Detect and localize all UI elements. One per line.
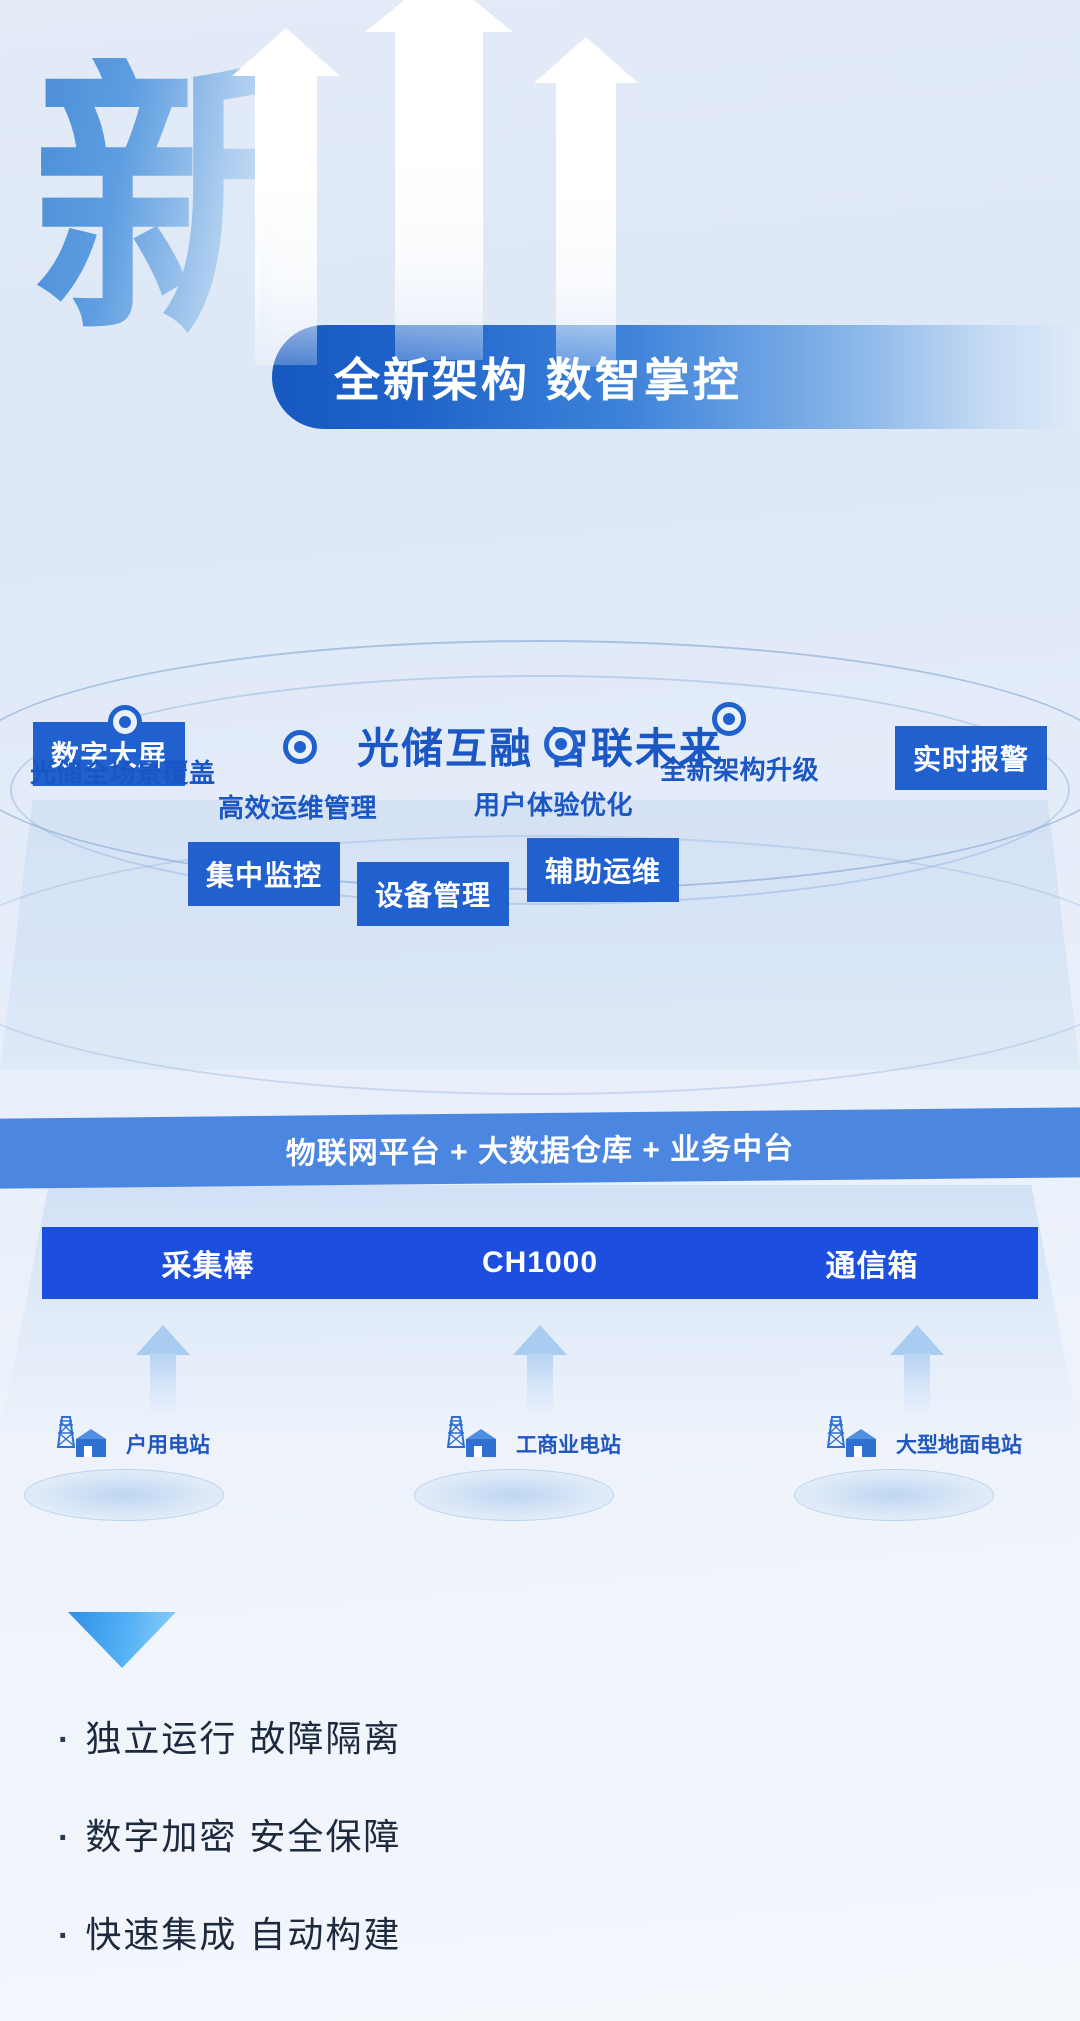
arrow-right-head-icon: [534, 37, 638, 83]
feature-efficient-om-management[interactable]: 高效运维管理: [283, 730, 317, 764]
tag-assisted-om[interactable]: 辅助运维: [527, 838, 679, 902]
upflow-arrow-head: [136, 1325, 190, 1355]
list-item: · 独立运行 故障隔离: [58, 1710, 958, 1762]
tag-device-management[interactable]: 设备管理: [357, 862, 509, 926]
arrow-center-head-icon: [365, 0, 513, 32]
feature-label: 用户体验优化: [474, 785, 633, 822]
upflow-arrow-shaft: [904, 1353, 930, 1415]
upflow-arrow-shaft: [527, 1353, 553, 1415]
power-station-icon: [48, 1413, 112, 1471]
power-station-icon: [818, 1413, 882, 1471]
benefit-text: 数字加密 安全保障: [85, 1808, 401, 1860]
arrow-left-shaft: [255, 75, 317, 365]
bullet-marker-icon: ·: [58, 1919, 69, 1953]
tag-realtime-alarm[interactable]: 实时报警: [895, 726, 1047, 790]
poster-root: 新 全新架构 数智掌控 光储互融 智联未来 数字大屏 实时报警 集中监控 设备管…: [0, 0, 1080, 2021]
benefits-list: · 独立运行 故障隔离 · 数字加密 安全保障 · 快速集成 自动构建: [58, 1710, 958, 2004]
upflow-arrow-shaft: [150, 1353, 176, 1415]
arrow-center-shaft: [395, 30, 483, 360]
feature-dot-icon: [544, 727, 578, 761]
device-bar: 采集棒 CH1000 通信箱: [42, 1227, 1038, 1299]
arrow-left-head-icon: [232, 28, 340, 76]
down-triangle-icon: [68, 1612, 176, 1668]
station-label: 工商业电站: [516, 1429, 621, 1459]
upflow-arrow-right-icon: [890, 1325, 944, 1417]
list-item: · 快速集成 自动构建: [58, 1906, 958, 1958]
upflow-arrow-center-icon: [513, 1325, 567, 1417]
benefit-text: 独立运行 故障隔离: [85, 1710, 401, 1762]
feature-dot-icon: [712, 702, 746, 736]
tag-centralized-monitoring[interactable]: 集中监控: [188, 842, 340, 906]
feature-label: 全新架构升级: [660, 750, 819, 787]
list-item: · 数字加密 安全保障: [58, 1808, 958, 1860]
upflow-arrow-head: [890, 1325, 944, 1355]
bullet-marker-icon: ·: [58, 1821, 69, 1855]
device-ch1000[interactable]: CH1000: [374, 1246, 706, 1280]
station-ground-ellipse: [24, 1469, 224, 1521]
power-station-icon: [438, 1413, 502, 1471]
station-label: 大型地面电站: [896, 1429, 1022, 1459]
station-ground-ellipse: [794, 1469, 994, 1521]
feature-user-experience-optimization[interactable]: 用户体验优化: [544, 727, 578, 761]
platform-capability-bar: 物联网平台 + 大数据仓库 + 业务中台: [0, 1107, 1080, 1188]
feature-dot-icon: [283, 730, 317, 764]
device-communication-box[interactable]: 通信箱: [706, 1241, 1038, 1285]
platform-capability-text: 物联网平台 + 大数据仓库 + 业务中台: [286, 1123, 794, 1172]
device-collector-stick[interactable]: 采集棒: [42, 1241, 374, 1285]
feature-label: 光储全场景覆盖: [30, 753, 216, 790]
upflow-arrow-head: [513, 1325, 567, 1355]
benefit-text: 快速集成 自动构建: [85, 1906, 401, 1958]
station-label: 户用电站: [126, 1429, 210, 1459]
feature-dot-icon: [108, 705, 142, 739]
feature-label: 高效运维管理: [218, 788, 377, 825]
rising-arrows-group: [0, 230, 1080, 630]
arrow-right-shaft: [556, 82, 616, 367]
device-stage: 采集棒 CH1000 通信箱: [0, 1185, 1080, 1605]
upflow-arrow-left-icon: [136, 1325, 190, 1417]
bullet-marker-icon: ·: [58, 1723, 69, 1757]
feature-new-architecture-upgrade[interactable]: 全新架构升级: [712, 702, 746, 736]
station-ground-ellipse: [414, 1469, 614, 1521]
feature-full-scenario-coverage[interactable]: 光储全场景覆盖: [108, 705, 142, 739]
